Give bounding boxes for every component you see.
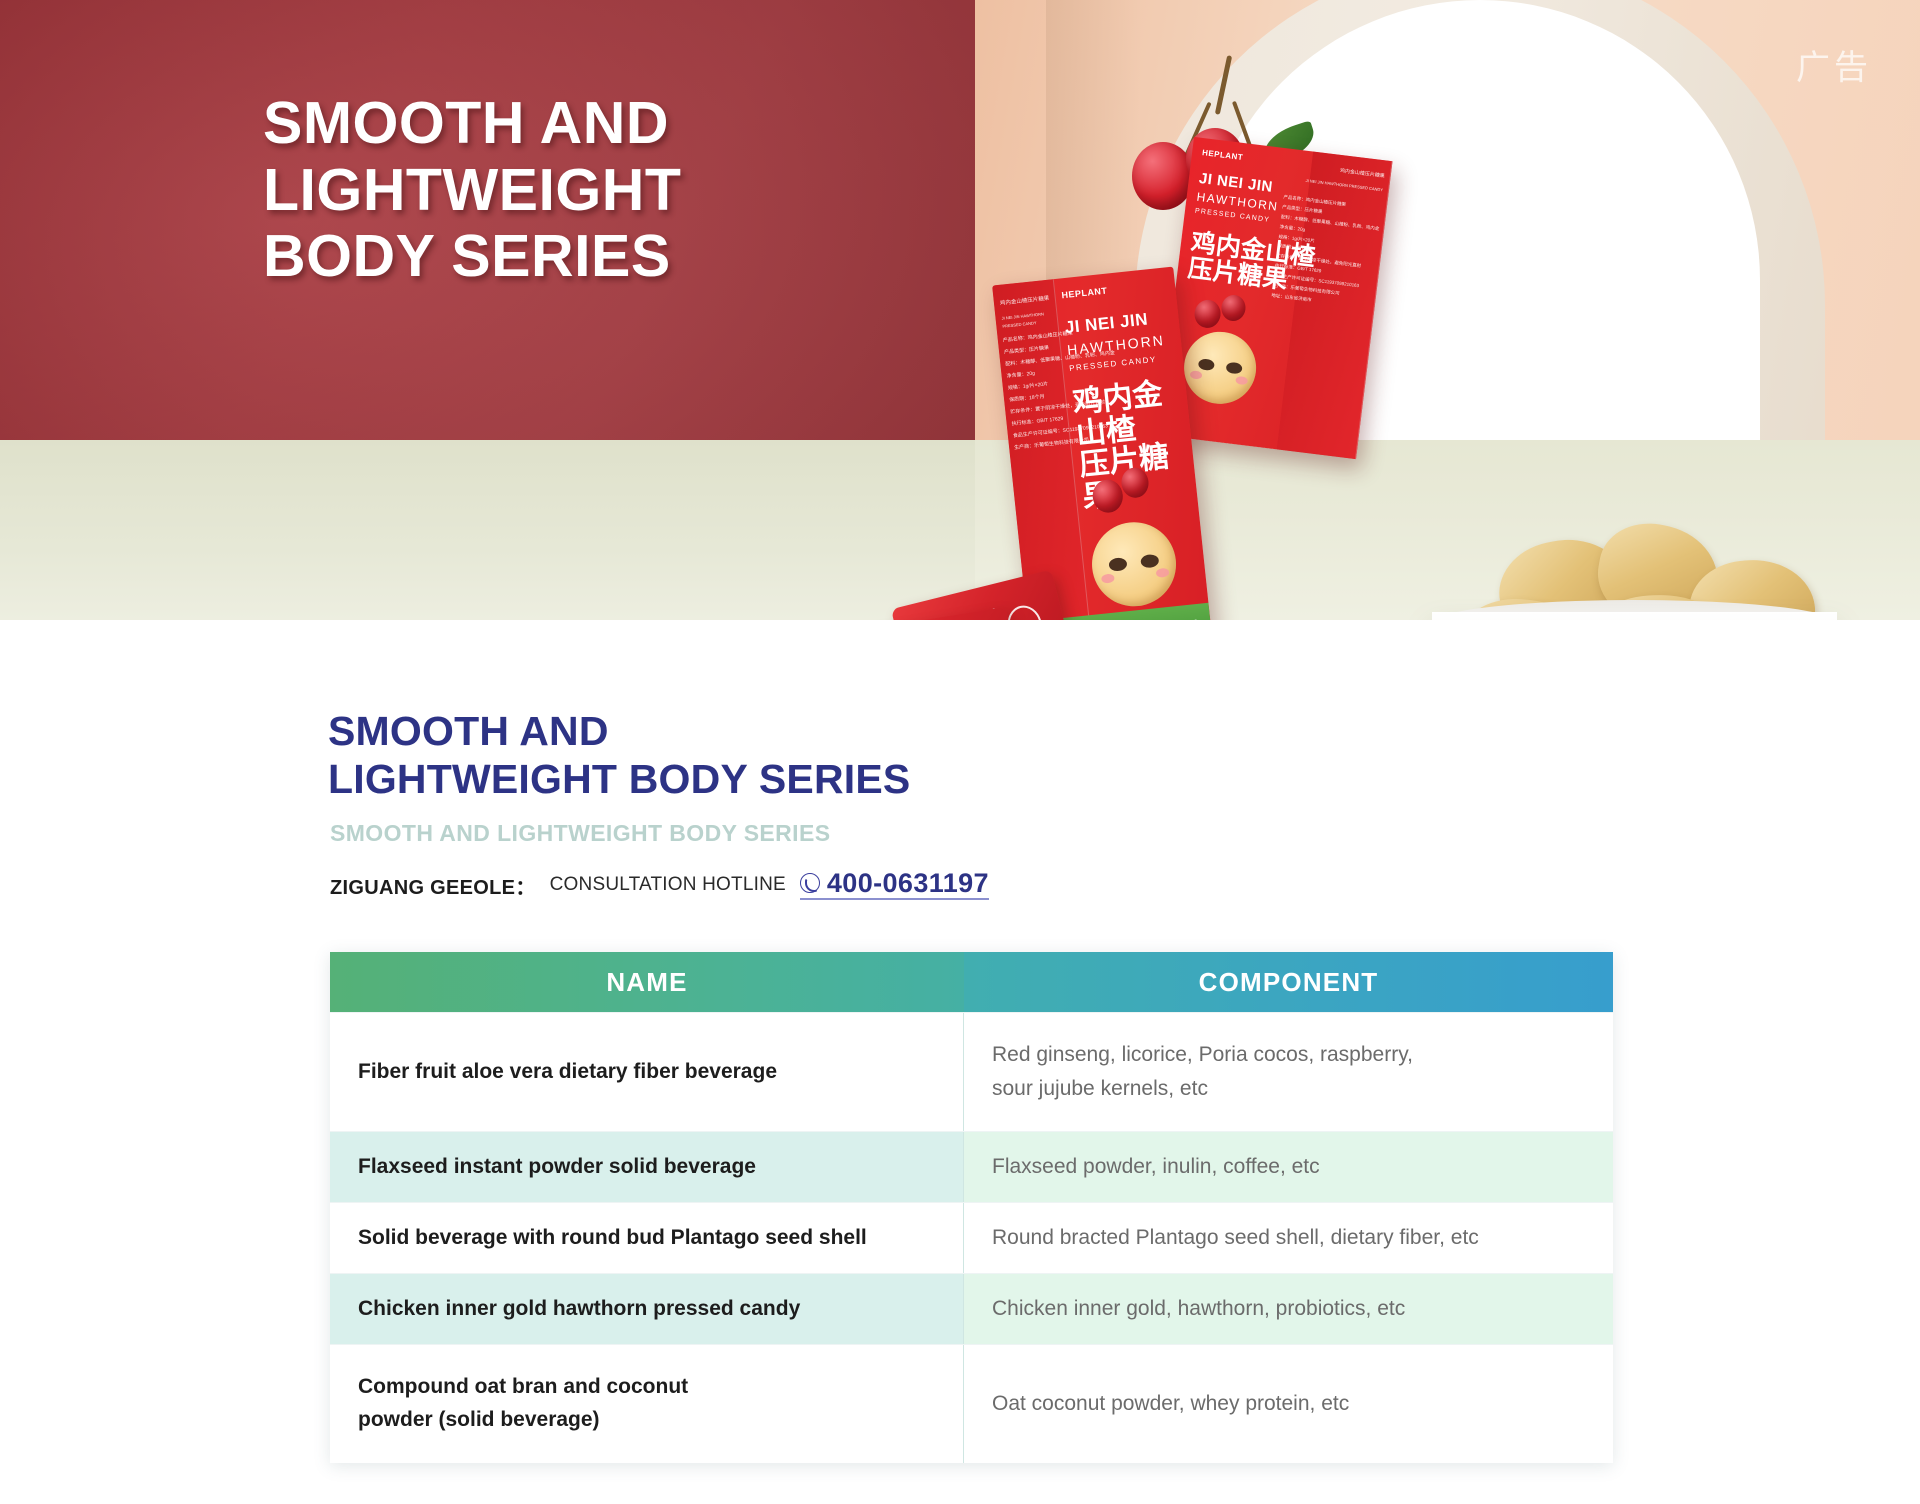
hotline-number: 400-0631197: [827, 871, 989, 895]
table-row: Fiber fruit aloe vera dietary fiber beve…: [330, 1012, 1613, 1131]
hawthorn-berry: [1132, 142, 1194, 210]
product-box-back: HEPLANT JI NEI JIN HAWTHORN PRESSED CAND…: [1157, 137, 1392, 459]
section-subtitle: SMOOTH AND LIGHTWEIGHT BODY SERIES: [330, 820, 830, 847]
product-panel-subtitle: JI NEI JIN HAWTHORN PRESSED CANDY: [1001, 309, 1057, 330]
table-row: Compound oat bran and coconut powder (so…: [330, 1344, 1613, 1463]
product-panel-lines: 产品名称：鸡内金山楂压片糖果 产品类型：压片糖果 配料：木糖醇、低聚果糖、山楂粉…: [1271, 192, 1383, 312]
section-title: SMOOTH AND LIGHTWEIGHT BODY SERIES: [328, 708, 910, 804]
table-cell-name: Chicken inner gold hawthorn pressed cand…: [330, 1274, 964, 1344]
table-cell-component: Round bracted Plantago seed shell, dieta…: [964, 1203, 1613, 1273]
hotline-label: CONSULTATION HOTLINE: [550, 874, 786, 896]
product-brand-logo: HEPLANT: [1061, 286, 1108, 301]
table-cell-name: Compound oat bran and coconut powder (so…: [330, 1345, 964, 1463]
table-row: Flaxseed instant powder solid beverage F…: [330, 1131, 1613, 1202]
table-cell-component: Flaxseed powder, inulin, coffee, etc: [964, 1132, 1613, 1202]
table-cell-component: Red ginseng, licorice, Poria cocos, rasp…: [964, 1013, 1613, 1131]
table-cell-name: Fiber fruit aloe vera dietary fiber beve…: [330, 1013, 964, 1131]
table-header-name: NAME: [330, 952, 964, 1012]
products-table: NAME COMPONENT Fiber fruit aloe vera die…: [330, 952, 1613, 1463]
phone-circle-icon: [800, 873, 820, 893]
product-panel-title: 鸡内金山楂压片糖果: [1000, 294, 1050, 310]
product-brand-logo: HEPLANT: [1202, 148, 1244, 162]
table-cell-name: Solid beverage with round bud Plantago s…: [330, 1203, 964, 1273]
table-row: Chicken inner gold hawthorn pressed cand…: [330, 1273, 1613, 1344]
mascot-lion-icon: [1180, 328, 1260, 408]
table-cell-name: Flaxseed instant powder solid beverage: [330, 1132, 964, 1202]
advertisement-badge: 广告: [1796, 40, 1872, 89]
serving-bowl: [1432, 612, 1837, 620]
table-row: Solid beverage with round bud Plantago s…: [330, 1202, 1613, 1273]
hotline-link[interactable]: 400-0631197: [800, 870, 989, 900]
hero-banner: SMOOTH AND LIGHTWEIGHT BODY SERIES 广告 HE…: [0, 0, 1920, 620]
hotline-row: ZIGUANG GEEOLE： CONSULTATION HOTLINE 400…: [330, 870, 989, 900]
hero-title: SMOOTH AND LIGHTWEIGHT BODY SERIES: [263, 90, 681, 290]
box-berry-graphic: [1193, 298, 1222, 329]
table-header-component: COMPONENT: [964, 952, 1613, 1012]
table-header-row: NAME COMPONENT: [330, 952, 1613, 1012]
table-cell-component: Chicken inner gold, hawthorn, probiotics…: [964, 1274, 1613, 1344]
candy-oval-icon: [1003, 602, 1046, 620]
table-cell-component: Oat coconut powder, whey protein, etc: [964, 1345, 1613, 1463]
box-berry-graphic: [1220, 294, 1247, 323]
hero-floor-left: [0, 440, 975, 620]
mascot-lion-icon: [1088, 518, 1180, 610]
brand-label: ZIGUANG GEEOLE：: [330, 871, 536, 900]
